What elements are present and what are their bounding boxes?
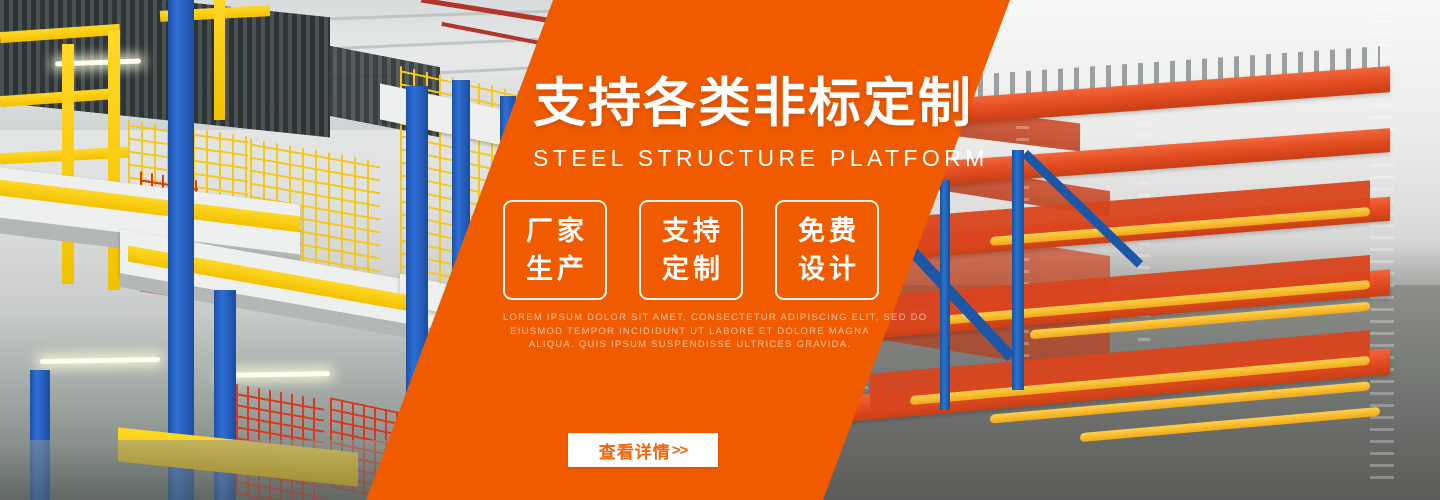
description-text: LOREM IPSUM DOLOR SIT AMET, CONSECTETUR … — [503, 311, 877, 352]
feature-badge-free-design[interactable]: 免费 设计 — [775, 200, 879, 300]
feature-badge-group: 厂家 生产 支持 定制 免费 设计 — [503, 200, 879, 300]
badge-line-1: 免费 — [794, 212, 860, 250]
subheadline: STEEL STRUCTURE PLATFORM — [533, 145, 963, 171]
badge-line-2: 生产 — [522, 250, 588, 288]
description-line-3: ALIQUA. QUIS IPSUM SUSPENDISSE ULTRICES … — [503, 338, 877, 352]
view-details-button[interactable]: 查看详情 >> — [568, 433, 718, 467]
headline: 支持各类非标定制 — [533, 74, 963, 134]
chevron-right-icon: >> — [672, 442, 688, 459]
cta-label: 查看详情 — [599, 438, 671, 463]
feature-badge-customization[interactable]: 支持 定制 — [639, 200, 743, 300]
banner-content: 支持各类非标定制 STEEL STRUCTURE PLATFORM 厂家 生产 … — [0, 0, 1440, 500]
feature-badge-manufacturer[interactable]: 厂家 生产 — [503, 200, 607, 300]
description-line-2: EIUSMOD TEMPOR INCIDIDUNT UT LABORE ET D… — [503, 325, 877, 339]
description-line-1: LOREM IPSUM DOLOR SIT AMET, CONSECTETUR … — [503, 311, 877, 325]
badge-line-2: 定制 — [658, 250, 724, 288]
promo-banner: 支持各类非标定制 STEEL STRUCTURE PLATFORM 厂家 生产 … — [0, 0, 1440, 500]
badge-line-1: 支持 — [658, 212, 724, 250]
badge-line-2: 设计 — [794, 250, 860, 288]
badge-line-1: 厂家 — [522, 212, 588, 250]
